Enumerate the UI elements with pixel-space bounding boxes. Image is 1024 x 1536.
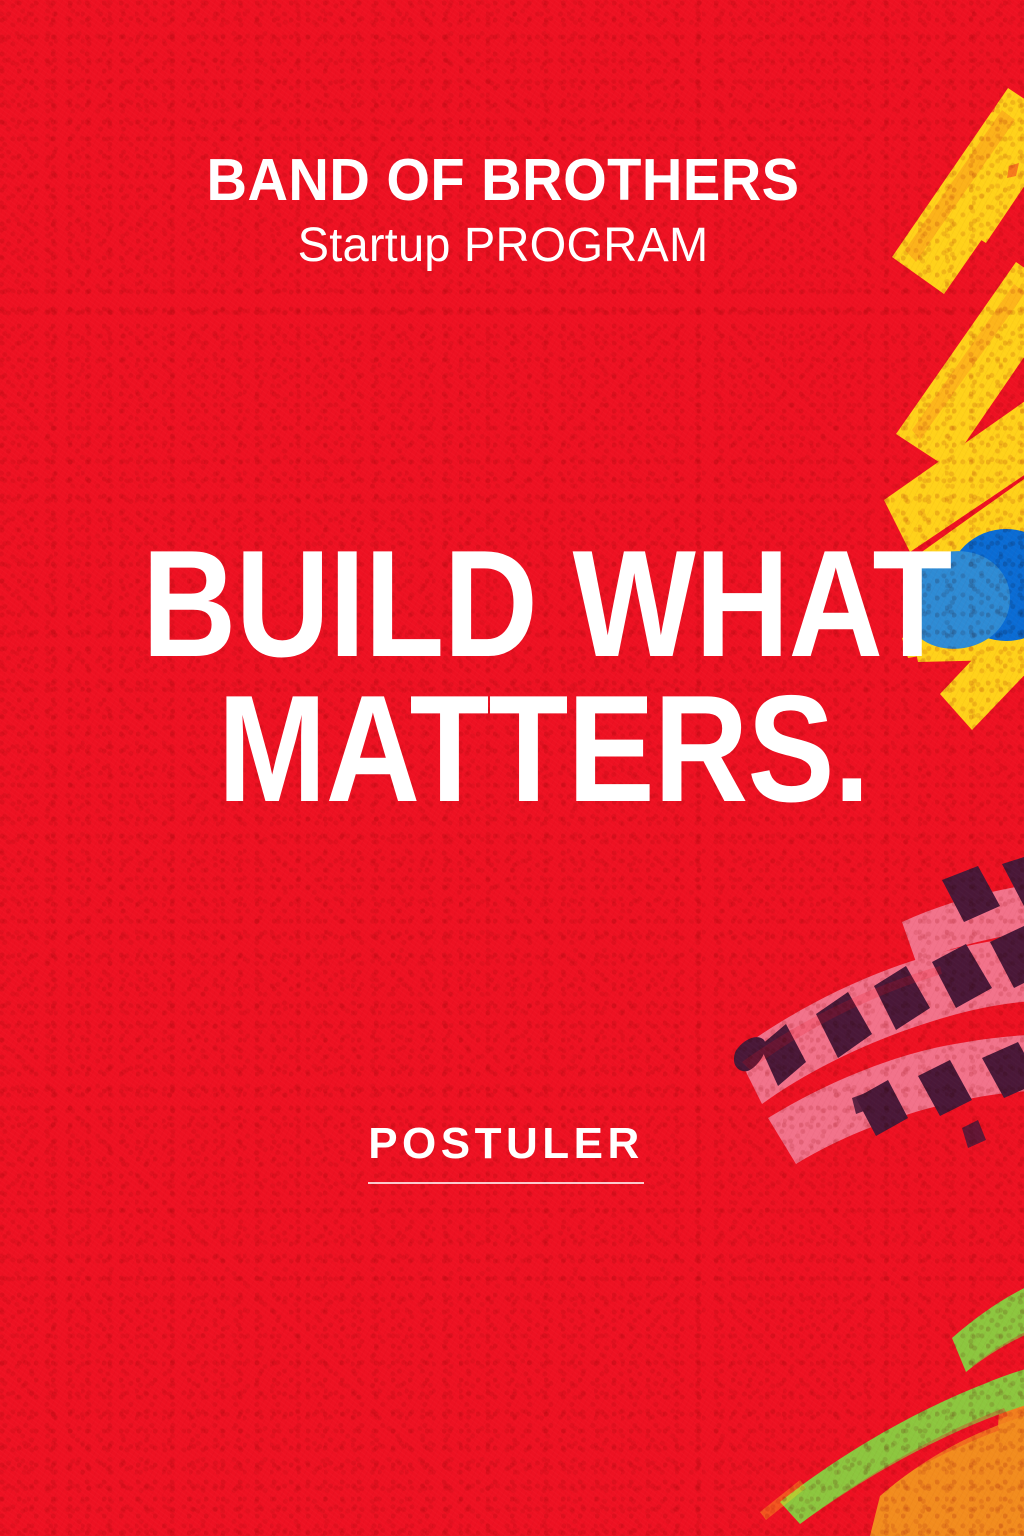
cta-block: POSTULER bbox=[0, 1120, 1024, 1184]
apply-button[interactable]: POSTULER bbox=[368, 1120, 644, 1184]
headline-block: BUILD WHAT MATTERS. bbox=[142, 536, 902, 818]
brand-subtitle: Startup PROGRAM bbox=[10, 221, 996, 271]
brand-title: BAND OF BROTHERS bbox=[25, 150, 981, 211]
headline-line-two: MATTERS. bbox=[142, 681, 796, 818]
header-block: BAND OF BROTHERS Startup PROGRAM bbox=[0, 150, 1024, 272]
poster-canvas: BAND OF BROTHERS Startup PROGRAM BUILD W… bbox=[0, 0, 1024, 1536]
poster-content: BAND OF BROTHERS Startup PROGRAM BUILD W… bbox=[0, 0, 1024, 1536]
headline-line-one: BUILD WHAT bbox=[142, 536, 796, 673]
